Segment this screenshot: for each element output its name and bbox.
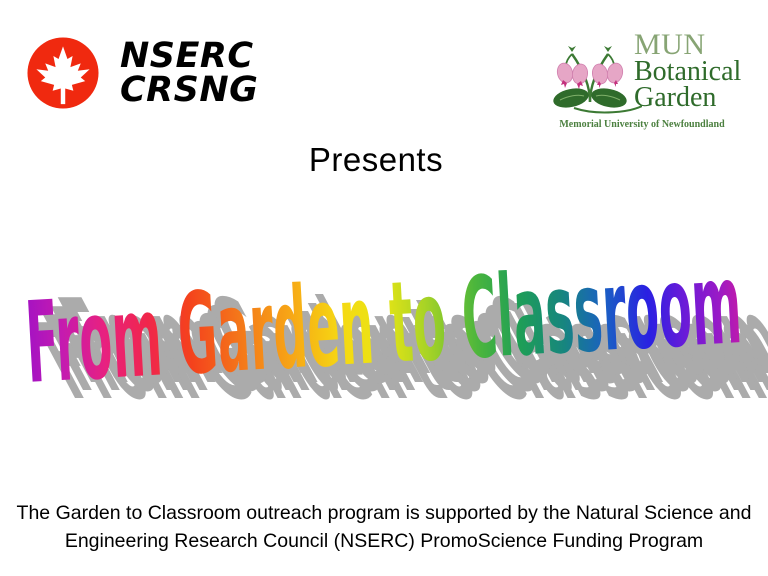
mun-botanical-garden-logo: MUN Botanical Garden Memorial University… [538,14,743,136]
nserc-crsng-logo: NSERC CRSNG [26,28,276,118]
nserc-line-french: CRSNG [120,73,258,107]
mun-university-subtitle: Memorial University of Newfoundland [540,119,744,130]
twinflower-icon [538,14,642,118]
nserc-maple-leaf-icon [26,36,100,110]
nserc-line-english: NSERC [120,39,258,73]
funding-caption-line-1: The Garden to Classroom outreach program… [14,500,754,528]
mun-wordmark: MUN Botanical Garden [634,30,746,112]
presents-text: Presents [309,141,443,178]
presentation-slide: NSERC CRSNG [0,0,768,576]
mun-garden-label: Garden [634,84,746,112]
wordart-title: From Garden to Classroom From Garden to … [0,212,768,402]
presents-label: Presents [0,141,768,179]
funding-caption: The Garden to Classroom outreach program… [14,500,754,555]
funding-caption-line-2: Engineering Research Council (NSERC) Pro… [14,528,754,556]
nserc-wordmark: NSERC CRSNG [120,39,258,108]
